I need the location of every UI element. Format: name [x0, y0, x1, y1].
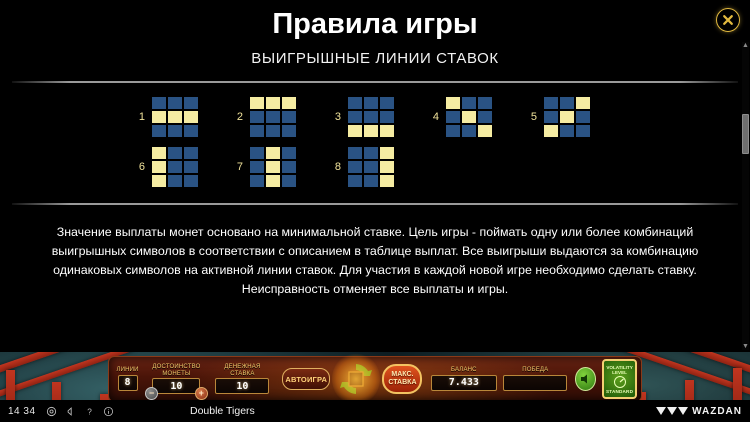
money-bet-caption: ДЕНЕЖНАЯ СТАВКА	[211, 364, 273, 377]
grid-cell	[168, 161, 182, 173]
grid-cell	[576, 111, 590, 123]
grid-cell	[282, 161, 296, 173]
page-subtitle: ВЫИГРЫШНЫЕ ЛИНИИ СТАВОК	[0, 50, 750, 67]
paylines-row-1: 12345	[10, 97, 740, 137]
game-control-bar: Линии 8 ДОСТОИНСТВО МОНЕТЫ 10 − + ДЕНЕЖН…	[108, 356, 642, 402]
grid-cell	[380, 97, 394, 109]
page-title: Правила игры	[0, 0, 750, 41]
grid-cell	[184, 147, 198, 159]
scrollbar-thumb[interactable]	[742, 114, 749, 154]
coin-value-display: 10	[152, 378, 200, 394]
payline-grid	[250, 97, 296, 137]
grid-cell	[184, 125, 198, 137]
status-icon-group: ?	[46, 406, 114, 417]
payline-6: 6	[136, 147, 198, 187]
grid-cell	[364, 175, 378, 187]
coin-increase-button[interactable]: +	[195, 387, 208, 400]
grid-cell-active	[152, 175, 166, 187]
gear-icon[interactable]	[46, 406, 57, 417]
win-value	[503, 375, 567, 391]
provider-logo: WAZDAN	[656, 406, 742, 417]
grid-cell	[544, 111, 558, 123]
grid-cell	[266, 111, 280, 123]
divider-bottom	[12, 203, 738, 205]
divider-top	[12, 81, 738, 83]
grid-cell	[184, 175, 198, 187]
grid-cell-active	[544, 125, 558, 137]
payline-4: 4	[430, 97, 492, 137]
grid-cell-active	[364, 125, 378, 137]
grid-cell-active	[380, 175, 394, 187]
grid-cell	[282, 147, 296, 159]
payline-grid	[250, 147, 296, 187]
grid-cell-active	[184, 111, 198, 123]
autoplay-button[interactable]: АВТОИГРА	[282, 368, 330, 390]
info-icon[interactable]	[103, 406, 114, 417]
grid-cell	[348, 161, 362, 173]
payline-grid	[544, 97, 590, 137]
grid-cell-active	[266, 147, 280, 159]
close-icon[interactable]	[716, 8, 740, 32]
payline-8: 8	[332, 147, 394, 187]
grid-cell	[462, 125, 476, 137]
grid-cell	[266, 125, 280, 137]
grid-cell	[364, 111, 378, 123]
grid-cell	[168, 97, 182, 109]
win-caption: ПОБЕДА	[522, 367, 548, 374]
grid-cell	[364, 161, 378, 173]
lines-control[interactable]: Линии 8	[113, 367, 142, 391]
coin-value-caption: ДОСТОИНСТВО МОНЕТЫ	[152, 364, 200, 377]
scrollbar[interactable]: ▲ ▼	[742, 42, 749, 350]
grid-cell	[152, 125, 166, 137]
grid-cell-active	[282, 97, 296, 109]
grid-cell	[576, 125, 590, 137]
game-title: Double Tigers	[190, 405, 255, 417]
scroll-down-arrow[interactable]: ▼	[742, 343, 749, 350]
grid-cell-active	[560, 111, 574, 123]
grid-cell	[250, 147, 264, 159]
money-bet-control[interactable]: ДЕНЕЖНАЯ СТАВКА 10	[211, 364, 274, 394]
grid-cell-active	[380, 147, 394, 159]
payline-3: 3	[332, 97, 394, 137]
volatility-value: STANDARD	[606, 389, 633, 394]
coin-value-control[interactable]: ДОСТОИНСТВО МОНЕТЫ 10 − +	[148, 364, 205, 394]
grid-cell	[168, 125, 182, 137]
grid-cell	[250, 125, 264, 137]
grid-cell-active	[348, 125, 362, 137]
lines-value: 8	[118, 375, 138, 391]
grid-cell	[282, 125, 296, 137]
clock: 14 34	[8, 406, 36, 417]
grid-cell-active	[266, 161, 280, 173]
paylines-row-2: 678	[10, 147, 740, 187]
wazdan-wordmark: WAZDAN	[692, 406, 742, 417]
grid-cell	[560, 97, 574, 109]
rules-overlay: Правила игры ВЫИГРЫШНЫЕ ЛИНИИ СТАВОК 123…	[0, 0, 750, 352]
grid-cell	[446, 111, 460, 123]
grid-cell	[364, 147, 378, 159]
close-x-glyph	[721, 13, 735, 27]
grid-cell	[152, 97, 166, 109]
max-bet-button[interactable]: МАКС. СТАВКА	[382, 364, 422, 394]
grid-cell	[250, 111, 264, 123]
payline-1: 1	[136, 97, 198, 137]
max-bet-line1: МАКС.	[391, 371, 413, 380]
grid-cell	[282, 175, 296, 187]
payline-grid	[152, 97, 198, 137]
grid-cell	[348, 147, 362, 159]
grid-cell	[282, 111, 296, 123]
grid-cell-active	[462, 111, 476, 123]
payline-number: 4	[430, 111, 439, 123]
win-control: ПОБЕДА	[503, 367, 567, 391]
payline-number: 8	[332, 161, 341, 173]
grid-cell-active	[478, 125, 492, 137]
spin-button[interactable]	[336, 357, 376, 401]
max-bet-line2: СТАВКА	[388, 379, 416, 388]
balance-caption: БАЛАНС	[451, 367, 477, 374]
grid-cell	[544, 97, 558, 109]
grid-cell-active	[380, 125, 394, 137]
payline-2: 2	[234, 97, 296, 137]
payline-grid	[152, 147, 198, 187]
grid-cell	[380, 111, 394, 123]
payline-grid	[446, 97, 492, 137]
payline-number: 3	[332, 111, 341, 123]
svg-text:?: ?	[87, 407, 92, 416]
paylines-section: 12345 678	[0, 97, 750, 187]
grid-cell	[348, 97, 362, 109]
volatility-gauge-icon	[612, 375, 628, 389]
grid-cell	[478, 97, 492, 109]
payline-number: 2	[234, 111, 243, 123]
sound-toggle-button[interactable]	[575, 367, 596, 391]
grid-cell	[560, 125, 574, 137]
payline-number: 7	[234, 161, 243, 173]
grid-cell	[462, 97, 476, 109]
game-screen: Линии 8 ДОСТОИНСТВО МОНЕТЫ 10 − + ДЕНЕЖН…	[0, 0, 750, 422]
grid-cell	[184, 97, 198, 109]
grid-cell-active	[576, 97, 590, 109]
payline-5: 5	[528, 97, 590, 137]
wazdan-triangles-icon	[656, 406, 688, 416]
grid-cell-active	[250, 97, 264, 109]
grid-cell	[250, 161, 264, 173]
rules-body-text: Значение выплаты монет основано на миним…	[0, 223, 750, 299]
payline-number: 5	[528, 111, 537, 123]
grid-cell-active	[152, 147, 166, 159]
sound-icon[interactable]	[65, 406, 76, 417]
grid-cell	[364, 97, 378, 109]
grid-cell	[446, 125, 460, 137]
grid-cell-active	[152, 111, 166, 123]
balance-value: 7.433	[431, 375, 497, 391]
grid-cell-active	[446, 97, 460, 109]
grid-cell-active	[266, 97, 280, 109]
payline-number: 6	[136, 161, 145, 173]
grid-cell	[250, 175, 264, 187]
grid-cell-active	[266, 175, 280, 187]
sound-icon	[579, 372, 593, 386]
coin-decrease-button[interactable]: −	[145, 387, 158, 400]
lines-caption: Линии	[116, 367, 138, 374]
help-icon[interactable]: ?	[84, 406, 95, 417]
payline-grid	[348, 147, 394, 187]
grid-cell	[348, 175, 362, 187]
payline-number: 1	[136, 111, 145, 123]
grid-cell	[478, 111, 492, 123]
money-bet-value: 10	[215, 378, 269, 394]
balance-control: БАЛАНС 7.433	[430, 367, 497, 391]
grid-cell-active	[152, 161, 166, 173]
grid-cell-active	[168, 111, 182, 123]
grid-cell-active	[380, 161, 394, 173]
grid-cell	[184, 161, 198, 173]
grid-cell	[168, 147, 182, 159]
status-bar: 14 34 ? Double Tigers WAZ	[0, 400, 750, 422]
scroll-up-arrow[interactable]: ▲	[742, 42, 749, 49]
payline-grid	[348, 97, 394, 137]
payline-7: 7	[234, 147, 296, 187]
volatility-level-widget[interactable]: VOLATILITY LEVEL STANDARD	[602, 359, 637, 399]
grid-cell	[348, 111, 362, 123]
grid-cell	[168, 175, 182, 187]
